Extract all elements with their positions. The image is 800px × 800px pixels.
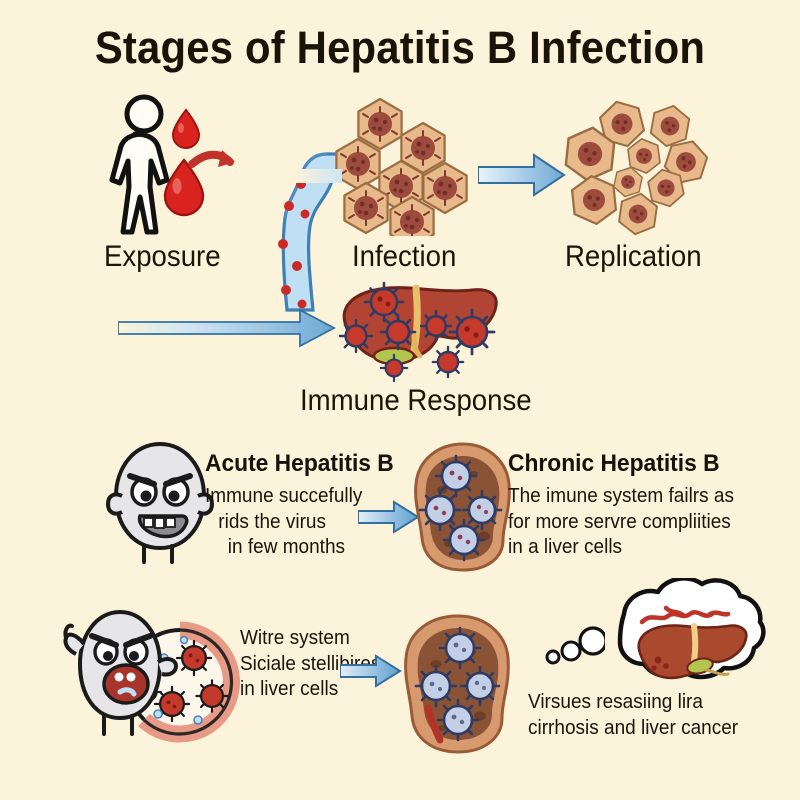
blood-drop-large-icon: [165, 160, 203, 215]
immune-cell-attacking-infected-cell-icon: [62, 596, 240, 754]
outcome-line-2: cirrhosis and liver cancer: [528, 716, 738, 742]
stage-label-exposure: Exposure: [104, 240, 221, 274]
chronic-panel-body: The imune system failrs as for more serv…: [508, 484, 734, 561]
arrow-to-immune-response-icon: [118, 305, 338, 351]
chronic-infected-liver-icon: [398, 612, 518, 758]
arrow-to-infected-liver-icon: [340, 654, 402, 688]
arrow-infection-to-replication-icon: [478, 152, 566, 198]
arrow-exposure-to-infection-icon: [296, 158, 342, 194]
acute-line-2: rids the virus: [205, 510, 362, 536]
infected-liver-tissue-icon: [408, 440, 518, 574]
stage-label-replication: Replication: [565, 240, 702, 274]
liver-with-viruses-icon: [332, 276, 512, 386]
angry-immune-cell-icon: [100, 438, 220, 570]
page-title: Stages of Hepatitis B Infection: [28, 22, 772, 74]
hexagon-liver-cells-icon: [330, 96, 485, 236]
outcome-line-1: Virsues resasiing lira: [528, 690, 738, 716]
acute-panel-heading: Acute Hepatitis B: [205, 450, 394, 478]
outcome-body: Virsues resasiing lira cirrhosis and liv…: [528, 690, 738, 741]
chronic-line-1: The imune system failrs as: [508, 484, 734, 510]
scattered-hexagon-cells-icon: [560, 96, 720, 236]
virus-system-line-1: Witre system: [240, 626, 380, 652]
chronic-line-2: for more servre compliities: [508, 510, 734, 536]
acute-line-3: in few months: [205, 535, 362, 561]
stage-label-infection: Infection: [352, 240, 456, 274]
human-figure-icon: [112, 97, 167, 232]
acute-line-1: Immune succefully: [205, 484, 362, 510]
transmission-arrow-icon: [192, 150, 235, 167]
infographic-canvas: Stages of Hepatitis B Infection: [0, 0, 800, 800]
chronic-panel-heading: Chronic Hepatitis B: [508, 450, 720, 478]
blood-drop-icon: [173, 110, 199, 148]
thought-bubble-diseased-liver-icon: [578, 578, 778, 700]
acute-panel-body: Immune succefully rids the virus in few …: [205, 484, 362, 561]
stage-label-immune-response: Immune Response: [300, 384, 532, 418]
chronic-line-3: in a liver cells: [508, 535, 734, 561]
